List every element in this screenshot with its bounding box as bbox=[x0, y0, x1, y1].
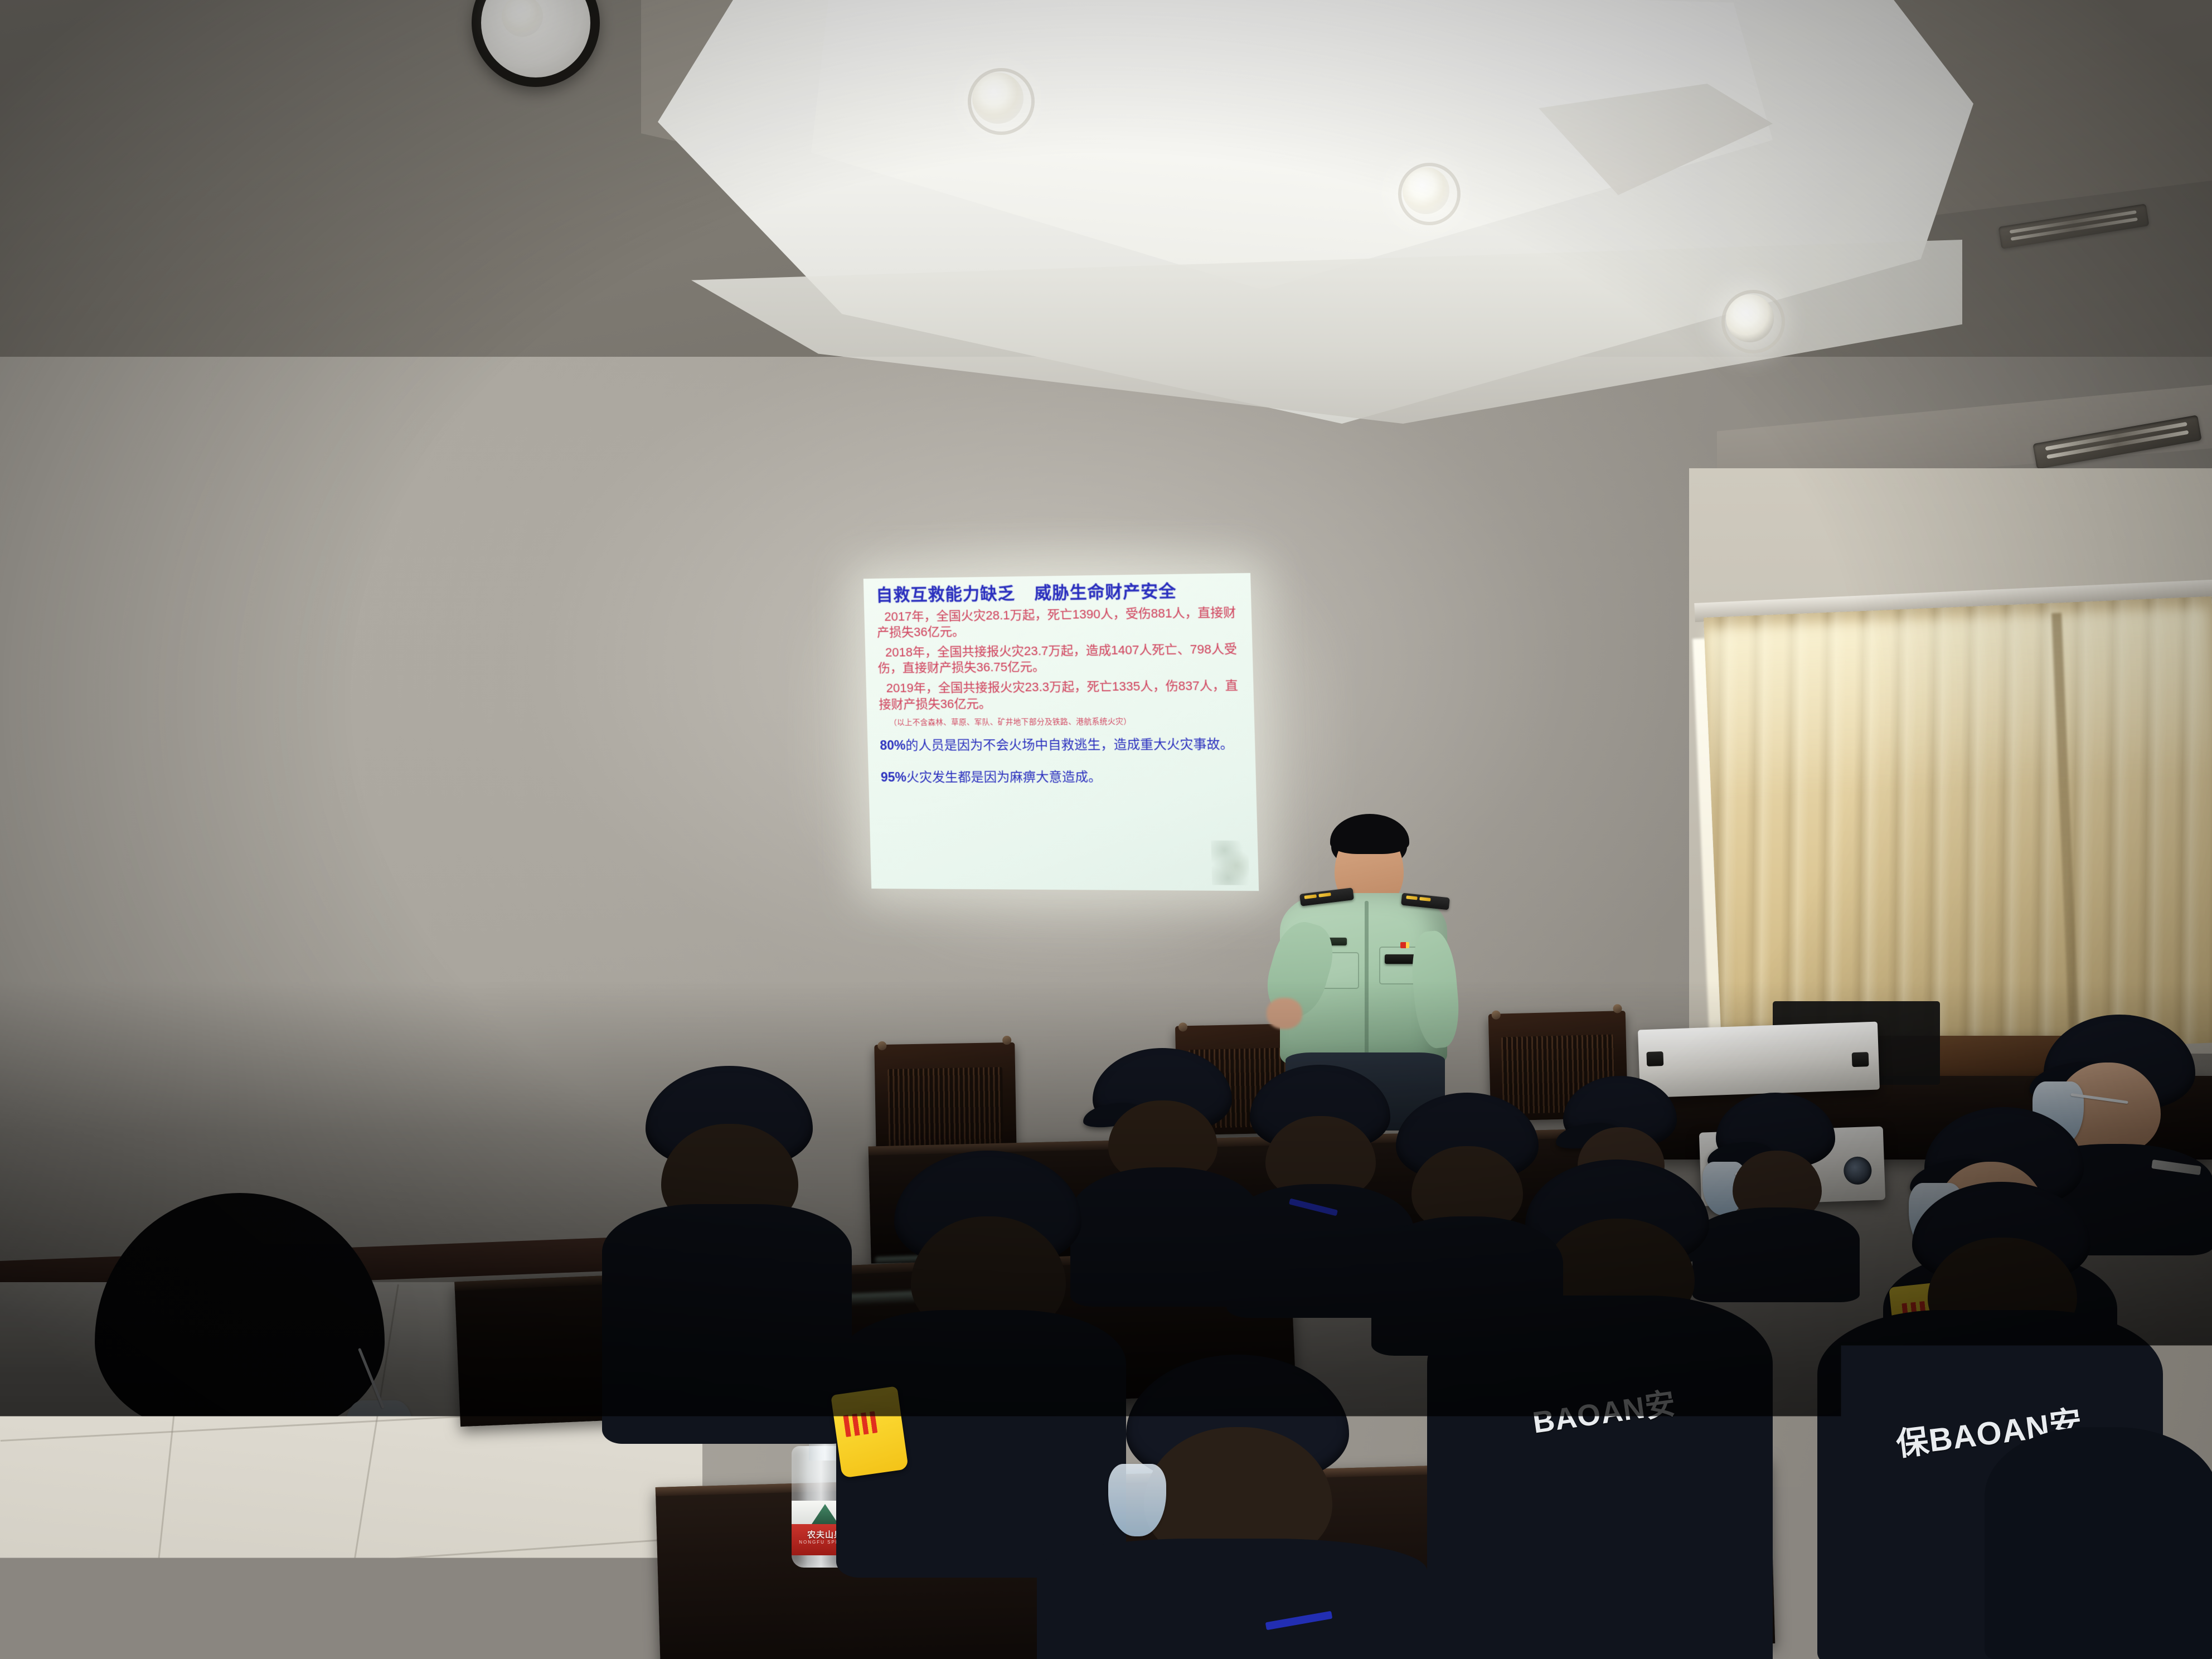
slide-highlight-95-pct: 95% bbox=[881, 770, 907, 784]
beige-top bbox=[33, 1527, 474, 1659]
slide-title-left: 自救互救能力缺乏 bbox=[876, 584, 1015, 605]
downlight-ring bbox=[968, 68, 1035, 135]
slide-title: 自救互救能力缺乏威胁生命财产安全 bbox=[876, 581, 1239, 605]
flag-pin-icon bbox=[1400, 942, 1409, 948]
attendee-front-left bbox=[33, 1193, 468, 1659]
slide-highlight-80-pct: 80% bbox=[880, 738, 906, 752]
attendee bbox=[1382, 1093, 1550, 1338]
curtain-daylight-glow bbox=[1706, 609, 2212, 797]
slide-footnote: （以上不含森林、草原、军队、矿井地下部分及铁路、港航系统火灾） bbox=[879, 716, 1243, 728]
meeting-room-photo: 自救互救能力缺乏威胁生命财产安全 2017年，全国火灾28.1万起，死亡1390… bbox=[0, 0, 2212, 1659]
armband bbox=[831, 1386, 909, 1478]
face-mask-icon bbox=[346, 1400, 413, 1484]
slide-watermark-icon bbox=[1211, 841, 1249, 885]
slide-title-right: 威胁生命财产安全 bbox=[1034, 582, 1177, 603]
downlight-ring bbox=[1721, 290, 1785, 353]
slide-highlight-95-text: 火灾发生都是因为麻痹大意造成。 bbox=[906, 769, 1102, 784]
slide-highlight-80: 80%的人员是因为不会火场中自救逃生，造成重大火灾事故。 bbox=[880, 736, 1244, 754]
attendee bbox=[1026, 1355, 1427, 1659]
downlight-ring bbox=[1398, 163, 1461, 225]
attendee bbox=[608, 1066, 842, 1434]
projected-slide: 自救互救能力缺乏威胁生命财产安全 2017年，全国火灾28.1万起，死亡1390… bbox=[864, 573, 1259, 891]
attendee bbox=[1985, 1427, 2212, 1659]
slide-highlight-80-text: 的人员是因为不会火场中自救逃生，造成重大火灾事故。 bbox=[905, 736, 1234, 752]
slide-highlight-95: 95%火灾发生都是因为麻痹大意造成。 bbox=[881, 769, 1245, 786]
slide-stat-2018: 2018年，全国共接报火灾23.7万起，造成1407人死亡、798人受伤，直接财… bbox=[877, 641, 1241, 677]
slide-stat-2017: 2017年，全国火灾28.1万起，死亡1390人，受伤881人，直接财产损失36… bbox=[876, 604, 1240, 641]
slide-stat-2019: 2019年，全国共接报火灾23.3万起，死亡1335人，伤837人，直接财产损失… bbox=[878, 678, 1242, 712]
chair[interactable] bbox=[874, 1042, 1016, 1156]
